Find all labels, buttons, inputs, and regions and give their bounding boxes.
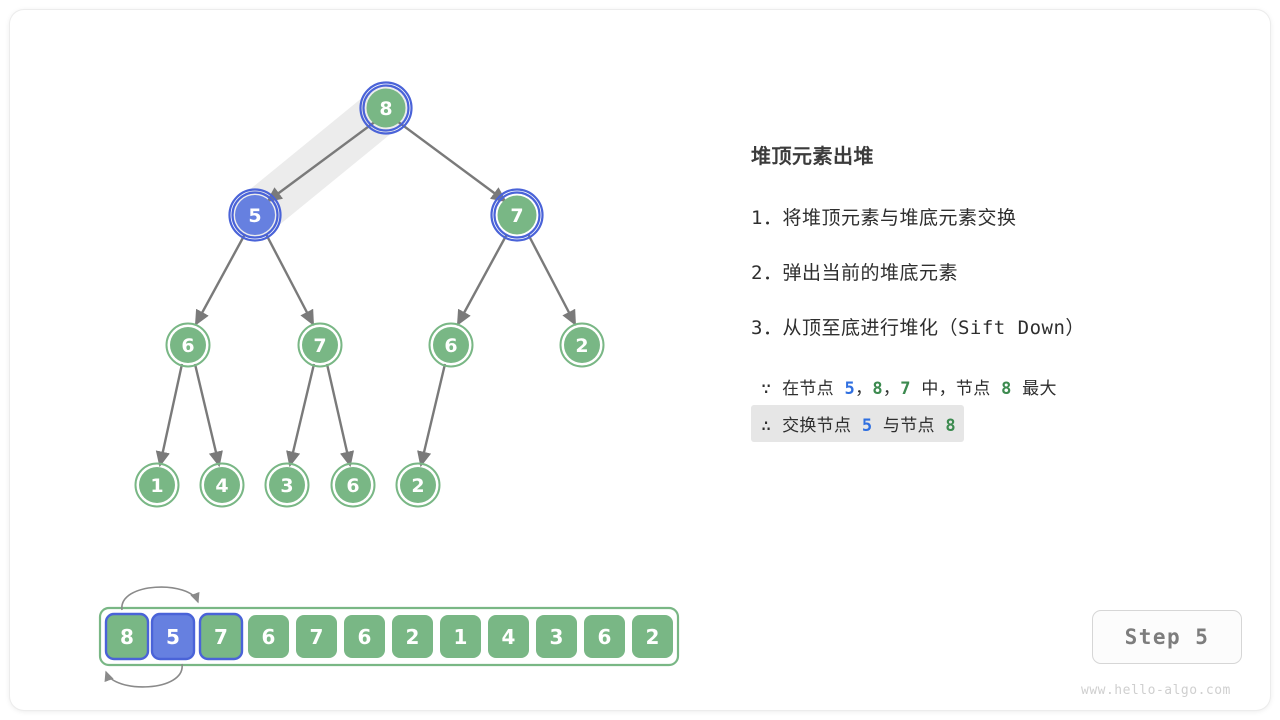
swap-node-b: 8	[945, 416, 956, 436]
tree-edge	[195, 364, 219, 465]
tree-node-label: 2	[411, 475, 424, 497]
figure-card: 8 5 7 6 7 6	[10, 10, 1270, 710]
reason-suffix: 最大	[1012, 379, 1057, 399]
array-cell-label: 4	[502, 625, 516, 649]
tree-node-label: 4	[215, 475, 228, 497]
tree-node-label: 7	[313, 335, 326, 357]
array-cell-label: 2	[406, 625, 420, 649]
step-item-3: 3．从顶至底进行堆化（Sift Down）	[751, 313, 1231, 340]
tree-node-label: 6	[346, 475, 359, 497]
tree-node-level3-2[interactable]: 7	[299, 324, 342, 367]
array-cell[interactable]: 5	[152, 614, 194, 659]
array-cell-label: 7	[310, 625, 324, 649]
array-cell-label: 3	[550, 625, 564, 649]
array-cell-label: 6	[598, 625, 612, 649]
watermark: www.hello-algo.com	[1081, 683, 1231, 698]
tree-node-label: 6	[181, 335, 194, 357]
array-cell[interactable]: 6	[584, 615, 625, 658]
tree-node-leaf-3[interactable]: 3	[266, 464, 309, 507]
reason-because-prefix: ∵ 在节点	[761, 379, 845, 399]
tree-node-label: 1	[150, 475, 163, 497]
array-cell-label: 1	[454, 625, 468, 649]
tree-edge	[266, 234, 313, 324]
tree-edge	[421, 364, 445, 465]
array-cell-label: 5	[166, 625, 180, 649]
tree-node-label: 6	[444, 335, 457, 357]
tree-node-level3-1[interactable]: 6	[167, 324, 210, 367]
array-cell[interactable]: 6	[248, 615, 289, 658]
tree-edge	[327, 364, 350, 465]
tree-node-label: 2	[575, 335, 588, 357]
tree-edge	[528, 234, 575, 324]
tree-node-leaf-5[interactable]: 2	[397, 464, 440, 507]
page-title: 堆顶元素出堆	[751, 140, 1231, 169]
reason-therefore-prefix: ∴ 交换节点	[761, 416, 862, 436]
tree-node-5[interactable]: 5	[230, 190, 281, 241]
tree-node-leaf-1[interactable]: 1	[136, 464, 179, 507]
swap-arrow-bottom	[106, 664, 182, 687]
step-badge: Step 5	[1092, 610, 1242, 664]
array-cell[interactable]: 8	[106, 614, 148, 659]
array-cell-label: 6	[358, 625, 372, 649]
tree-edge	[290, 364, 314, 465]
swap-arrow-top	[122, 587, 198, 610]
array-cell[interactable]: 7	[296, 615, 337, 658]
array-cell-label: 7	[214, 625, 228, 649]
tree-edge	[397, 121, 505, 201]
swap-node-a: 5	[862, 416, 873, 436]
reason-sep-2: ，	[883, 379, 900, 399]
reason-node-c: 7	[900, 379, 911, 399]
reason-because-line: ∵ 在节点 5，8，7 中，节点 8 最大	[751, 368, 1065, 405]
tree-edge	[458, 234, 507, 324]
tree-node-level3-3[interactable]: 6	[430, 324, 473, 367]
array-cell[interactable]: 7	[200, 614, 242, 659]
array-cell[interactable]: 2	[392, 615, 433, 658]
reason-therefore-mid: 与节点	[872, 416, 945, 436]
tree-node-label: 5	[248, 205, 261, 227]
array-representation: 8 5 7 6 7 6 2	[100, 587, 678, 687]
array-cell-label: 8	[120, 625, 134, 649]
step-badge-label: Step 5	[1125, 625, 1210, 649]
tree-edge	[196, 234, 245, 324]
array-cell[interactable]: 1	[440, 615, 481, 658]
reason-node-b: 8	[872, 379, 883, 399]
tree-edges	[160, 121, 575, 465]
array-cell[interactable]: 6	[344, 615, 385, 658]
reason-mid: 中，节点	[911, 379, 1001, 399]
tree-node-8[interactable]: 8	[361, 83, 412, 134]
array-cell-label: 6	[262, 625, 276, 649]
reasoning-block: ∵ 在节点 5，8，7 中，节点 8 最大 ∴ 交换节点 5 与节点 8	[751, 368, 1231, 442]
array-cell[interactable]: 2	[632, 615, 673, 658]
tree-node-label: 3	[280, 475, 293, 497]
tree-node-label: 8	[379, 98, 392, 120]
explanation-panel: 堆顶元素出堆 1．将堆顶元素与堆底元素交换 2．弹出当前的堆底元素 3．从顶至底…	[751, 140, 1231, 442]
tree-node-label: 7	[510, 205, 523, 227]
reason-sep-1: ，	[855, 379, 872, 399]
reason-node-max: 8	[1001, 379, 1012, 399]
step-item-2: 2．弹出当前的堆底元素	[751, 258, 1231, 285]
reason-therefore-line: ∴ 交换节点 5 与节点 8	[751, 405, 964, 442]
tree-node-level3-4[interactable]: 2	[561, 324, 604, 367]
reason-node-a: 5	[845, 379, 856, 399]
tree-node-leaf-4[interactable]: 6	[332, 464, 375, 507]
tree-edge	[160, 364, 182, 465]
tree-node-leaf-2[interactable]: 4	[201, 464, 244, 507]
array-cell-label: 2	[646, 625, 660, 649]
array-cell[interactable]: 4	[488, 615, 529, 658]
array-cell[interactable]: 3	[536, 615, 577, 658]
step-item-1: 1．将堆顶元素与堆底元素交换	[751, 203, 1231, 230]
tree-node-7-right[interactable]: 7	[492, 190, 543, 241]
